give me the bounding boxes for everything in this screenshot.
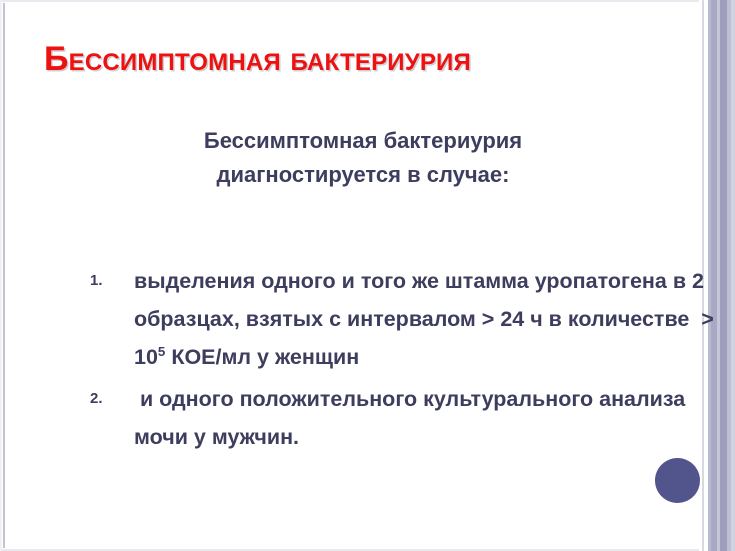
presentation-slide: Бессимптомная бактериурия Бессимптомная …: [0, 0, 735, 551]
slide-left-edge: [0, 0, 2, 551]
list-item-text: и одного положительного культурального а…: [134, 380, 724, 456]
band-stripe-9: [731, 0, 735, 551]
circle-decoration: [655, 458, 700, 503]
list-item: 2. и одного положительного культуральног…: [84, 380, 724, 456]
list-item-marker: 2.: [84, 380, 134, 418]
superscript-exponent: 5: [158, 344, 165, 359]
lead-line-2: диагностируется в случае:: [60, 158, 666, 192]
numbered-list: 1.выделения одного и того же штамма уроп…: [44, 262, 724, 460]
slide-left-accent-line: [3, 3, 5, 548]
slide-title: Бессимптомная бактериурия: [44, 41, 664, 78]
lead-line-1: Бессимптомная бактериурия: [60, 124, 666, 158]
list-item-text: выделения одного и того же штамма уропат…: [134, 262, 724, 376]
list-item: 1.выделения одного и того же штамма уроп…: [84, 262, 724, 376]
lead-paragraph: Бессимптомная бактериурия диагностируетс…: [60, 124, 666, 192]
list-item-marker: 1.: [84, 262, 134, 300]
slide-top-border: [0, 0, 735, 2]
